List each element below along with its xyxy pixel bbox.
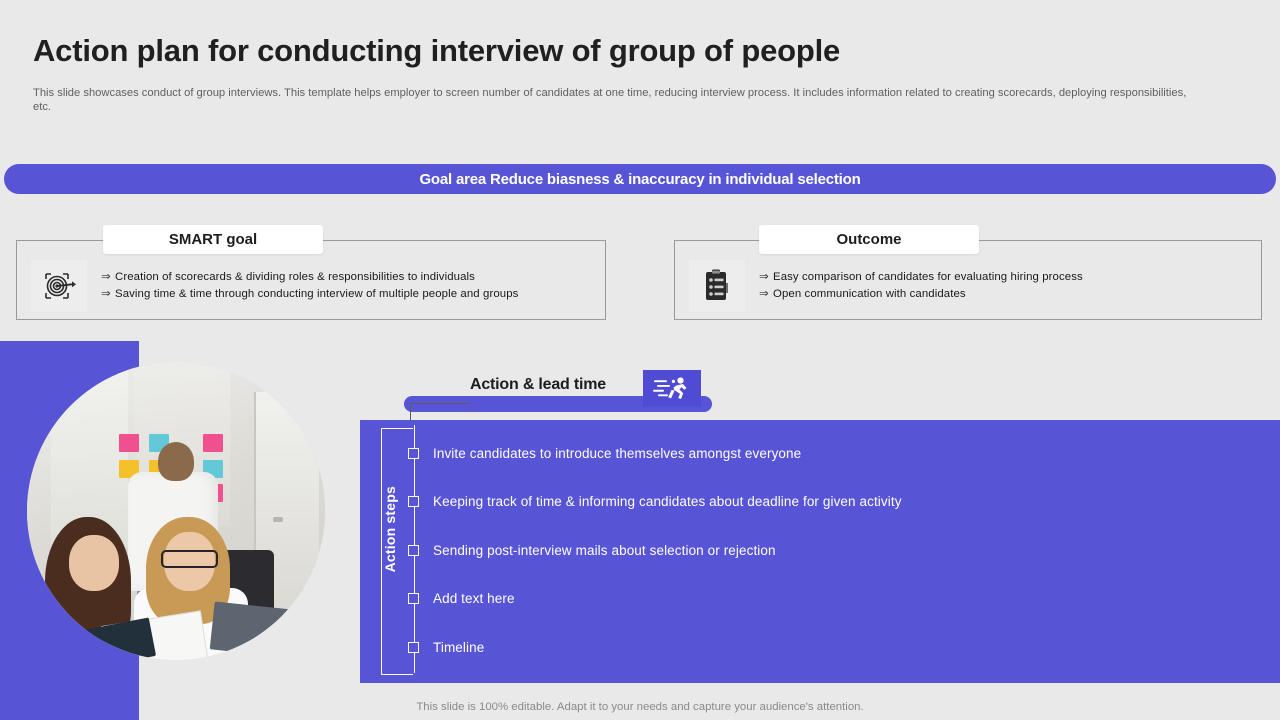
list-item-text: Easy comparison of candidates for evalua… (773, 271, 1083, 283)
action-step-row[interactable]: Sending post-interview mails about selec… (408, 542, 776, 558)
list-item-text: Creation of scorecards & dividing roles … (115, 271, 475, 283)
clipboard-icon (689, 260, 745, 312)
arrow-bullet-icon: ⇒ (759, 269, 773, 286)
team-meeting-photo (27, 362, 325, 660)
photo-laptop (210, 602, 304, 659)
step-bullet-icon (408, 593, 419, 604)
connector-line-horizontal (410, 403, 470, 404)
arrow-bullet-icon: ⇒ (101, 286, 115, 303)
outcome-label: Outcome (759, 225, 979, 254)
arrow-bullet-icon: ⇒ (101, 269, 115, 286)
step-label: Add text here (433, 591, 515, 606)
slide-footer-note: This slide is 100% editable. Adapt it to… (0, 701, 1280, 713)
page-subtitle: This slide showcases conduct of group in… (33, 86, 1193, 114)
smart-goal-card: ⇒Creation of scorecards & dividing roles… (16, 240, 606, 320)
step-label: Invite candidates to introduce themselve… (433, 446, 801, 461)
step-label: Keeping track of time & informing candid… (433, 494, 902, 509)
slide-root: Action plan for conducting interview of … (0, 0, 1280, 720)
outcome-list: ⇒Easy comparison of candidates for evalu… (759, 269, 1083, 303)
smart-goal-label: SMART goal (103, 225, 323, 254)
arrow-bullet-icon: ⇒ (759, 286, 773, 303)
list-item: ⇒Easy comparison of candidates for evalu… (759, 269, 1083, 286)
step-bullet-icon (408, 496, 419, 507)
list-item: ⇒Open communication with candidates (759, 286, 1083, 303)
step-label: Timeline (433, 640, 484, 655)
step-label: Sending post-interview mails about selec… (433, 543, 776, 558)
action-lead-time-title: Action & lead time (470, 376, 606, 394)
action-step-row[interactable]: Timeline (408, 639, 484, 655)
photo-person-right-glasses (161, 550, 218, 568)
list-item: ⇒Creation of scorecards & dividing roles… (101, 269, 518, 286)
action-step-row[interactable]: Keeping track of time & informing candid… (408, 493, 902, 509)
photo-person-standing-head (158, 442, 194, 481)
step-bullet-icon (408, 545, 419, 556)
photo-sticky-note (203, 434, 223, 452)
photo-content (27, 362, 325, 660)
photo-person-left-face (69, 535, 120, 592)
photo-door-handle (273, 517, 283, 522)
action-steps-axis-label: Action steps (382, 486, 402, 572)
goal-area-banner: Goal area Reduce biasness & inaccuracy i… (4, 164, 1276, 194)
list-item: ⇒Saving time & time through conducting i… (101, 286, 518, 303)
target-icon (31, 260, 87, 312)
smart-goal-list: ⇒Creation of scorecards & dividing roles… (101, 269, 518, 303)
photo-sticky-note (119, 434, 139, 452)
action-step-row[interactable]: Invite candidates to introduce themselve… (408, 445, 801, 461)
step-bullet-icon (408, 448, 419, 459)
list-item-text: Saving time & time through conducting in… (115, 288, 518, 300)
page-title: Action plan for conducting interview of … (33, 33, 840, 69)
outcome-card: ⇒Easy comparison of candidates for evalu… (674, 240, 1262, 320)
runner-icon (643, 370, 701, 406)
action-step-row[interactable]: Add text here (408, 590, 515, 606)
list-item-text: Open communication with candidates (773, 288, 966, 300)
step-bullet-icon (408, 642, 419, 653)
goal-area-text: Goal area Reduce biasness & inaccuracy i… (419, 171, 860, 188)
